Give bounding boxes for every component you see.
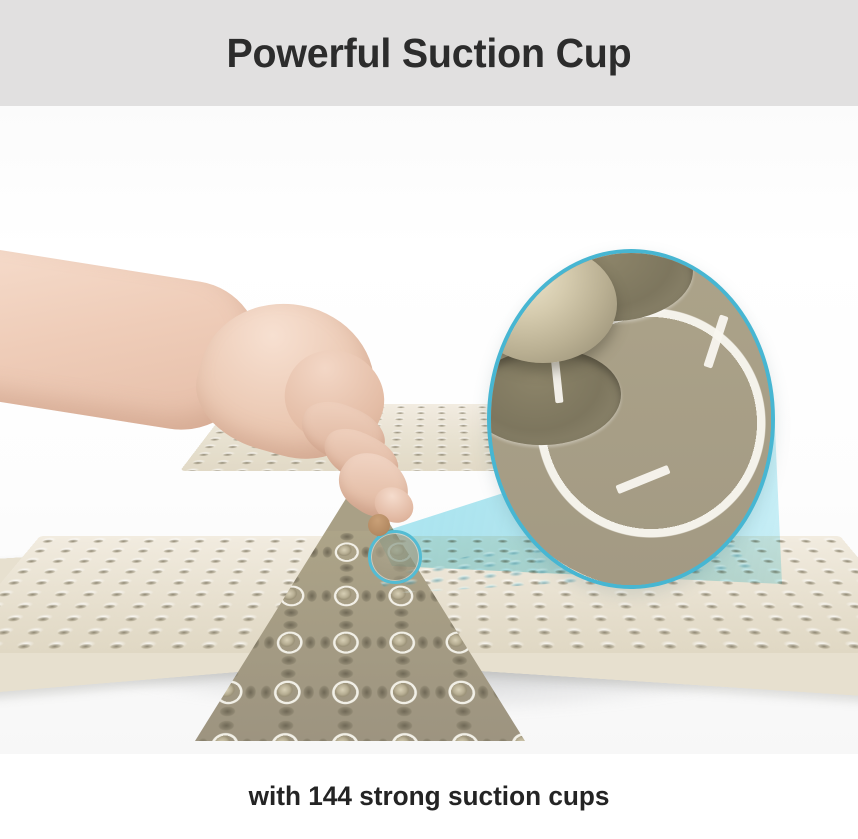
caption-banner: with 144 strong suction cups: [0, 754, 858, 839]
product-photo: [0, 106, 858, 754]
page-title: Powerful Suction Cup: [226, 30, 631, 77]
suction-cup-dome: [487, 249, 617, 363]
product-feature-image: Powerful Suction Cup: [0, 0, 858, 839]
hand: [0, 256, 440, 546]
header-banner: Powerful Suction Cup: [0, 0, 858, 106]
magnifier-zoom-circle[interactable]: [487, 249, 775, 589]
caption-text: with 144 strong suction cups: [249, 781, 610, 812]
zoom-pattern-surface: [487, 249, 775, 589]
arc-tick-7: [615, 465, 670, 494]
arc-tick-5: [703, 314, 728, 368]
